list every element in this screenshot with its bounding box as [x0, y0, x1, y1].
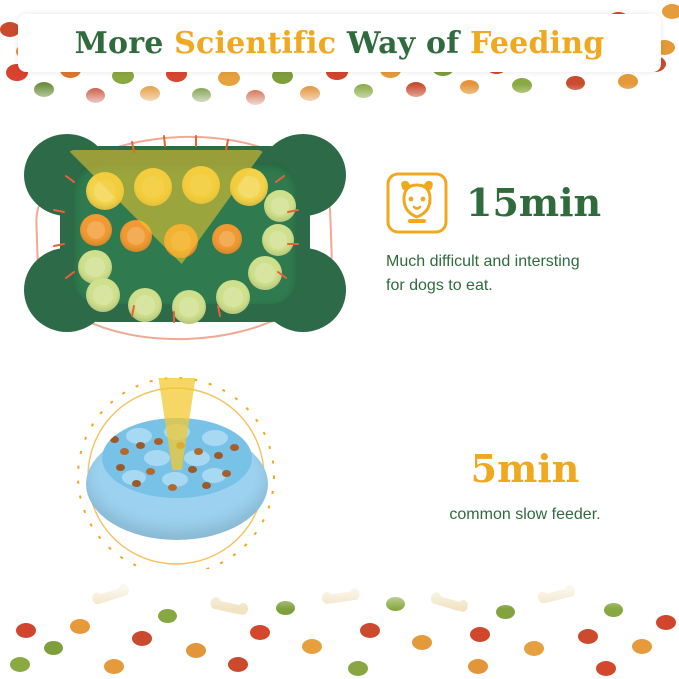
puzzle-feeder-caption: Much difficult and intersting for dogs t… — [386, 250, 668, 298]
bottom-band-fade — [0, 569, 679, 609]
common-feeder-caption: common slow feeder. — [390, 506, 660, 524]
title-segment-scientific: Scientific — [174, 26, 336, 61]
time-row-15: 15min — [386, 172, 668, 234]
caption-line-1: Much difficult and intersting — [386, 250, 668, 274]
title-segment-more: More — [75, 26, 175, 61]
puzzle-feeder-info: 15min Much difficult and intersting for … — [386, 172, 668, 298]
time-label-5min: 5min — [390, 450, 660, 488]
time-label-15min: 15min — [466, 184, 601, 222]
bottom-kibble-decoration — [0, 569, 679, 679]
product-infographic: More Scientific Way of Feeding — [0, 0, 679, 679]
page-title: More Scientific Way of Feeding — [75, 26, 605, 61]
feeder-tick-marks — [14, 118, 358, 353]
dog-head-icon — [386, 172, 448, 234]
caption-line-2: for dogs to eat. — [386, 274, 668, 298]
title-segment-wayof: Way of — [336, 26, 470, 61]
title-banner: More Scientific Way of Feeding — [18, 14, 661, 72]
puzzle-feeder-image — [14, 118, 358, 353]
title-segment-feeding: Feeding — [470, 26, 604, 61]
common-feeder-image — [72, 372, 304, 584]
common-feeder-info: 5min common slow feeder. — [390, 450, 660, 524]
